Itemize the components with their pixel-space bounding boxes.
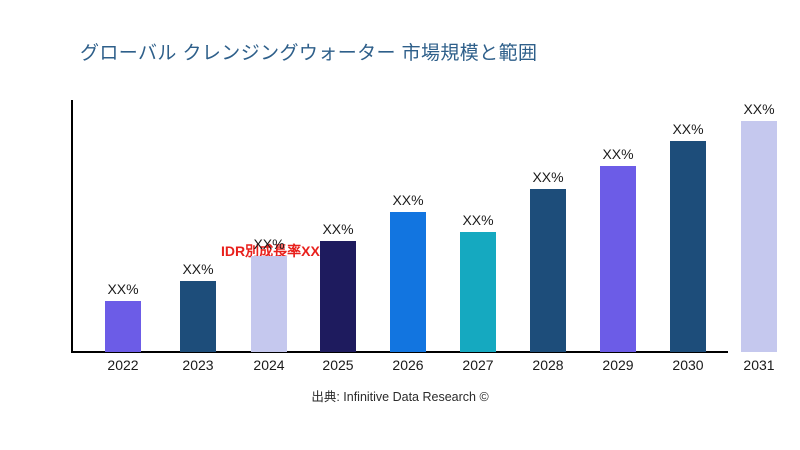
bar-value-label: XX% xyxy=(602,146,633,162)
x-tick-2028: 2028 xyxy=(518,357,578,373)
bar-group-2028[interactable]: XX% xyxy=(530,189,566,352)
x-tick-2024: 2024 xyxy=(239,357,299,373)
bar-group-2024[interactable]: XX% xyxy=(251,256,287,352)
bar-value-label: XX% xyxy=(322,221,353,237)
bar-value-label: XX% xyxy=(672,121,703,137)
plot-area: IDR別成長率XX% XX%XX%XX%XX%XX%XX%XX%XX%XX%XX… xyxy=(71,100,728,352)
x-tick-2029: 2029 xyxy=(588,357,648,373)
bar-group-2031[interactable]: XX% xyxy=(741,121,777,352)
bar-value-label: XX% xyxy=(462,212,493,228)
y-axis-line xyxy=(71,100,73,352)
bar-2027[interactable] xyxy=(460,232,496,352)
x-tick-2031: 2031 xyxy=(729,357,789,373)
x-tick-2023: 2023 xyxy=(168,357,228,373)
bar-2028[interactable] xyxy=(530,189,566,352)
bar-2022[interactable] xyxy=(105,301,141,352)
bar-group-2025[interactable]: XX% xyxy=(320,241,356,352)
bar-value-label: XX% xyxy=(392,192,423,208)
bar-value-label: XX% xyxy=(532,169,563,185)
bar-value-label: XX% xyxy=(743,101,774,117)
x-tick-2022: 2022 xyxy=(93,357,153,373)
bar-2024[interactable] xyxy=(251,256,287,352)
x-tick-2025: 2025 xyxy=(308,357,368,373)
source-note: 出典: Infinitive Data Research © xyxy=(0,386,800,405)
bar-group-2022[interactable]: XX% xyxy=(105,301,141,352)
bar-2026[interactable] xyxy=(390,212,426,352)
bar-2029[interactable] xyxy=(600,166,636,352)
bar-group-2029[interactable]: XX% xyxy=(600,166,636,352)
bar-value-label: XX% xyxy=(182,261,213,277)
bar-group-2023[interactable]: XX% xyxy=(180,281,216,352)
bar-group-2026[interactable]: XX% xyxy=(390,212,426,352)
bar-value-label: XX% xyxy=(107,281,138,297)
bar-2025[interactable] xyxy=(320,241,356,352)
bar-group-2027[interactable]: XX% xyxy=(460,232,496,352)
bar-2031[interactable] xyxy=(741,121,777,352)
bar-2023[interactable] xyxy=(180,281,216,352)
bar-chart: グローバル クレンジングウォーター 市場規模と範囲 100万ドル IDR別成長率… xyxy=(0,0,800,450)
x-tick-2027: 2027 xyxy=(448,357,508,373)
chart-title: グローバル クレンジングウォーター 市場規模と範囲 xyxy=(80,38,537,65)
bar-group-2030[interactable]: XX% xyxy=(670,141,706,352)
bar-value-label: XX% xyxy=(253,236,284,252)
x-tick-2026: 2026 xyxy=(378,357,438,373)
bar-2030[interactable] xyxy=(670,141,706,352)
x-tick-2030: 2030 xyxy=(658,357,718,373)
